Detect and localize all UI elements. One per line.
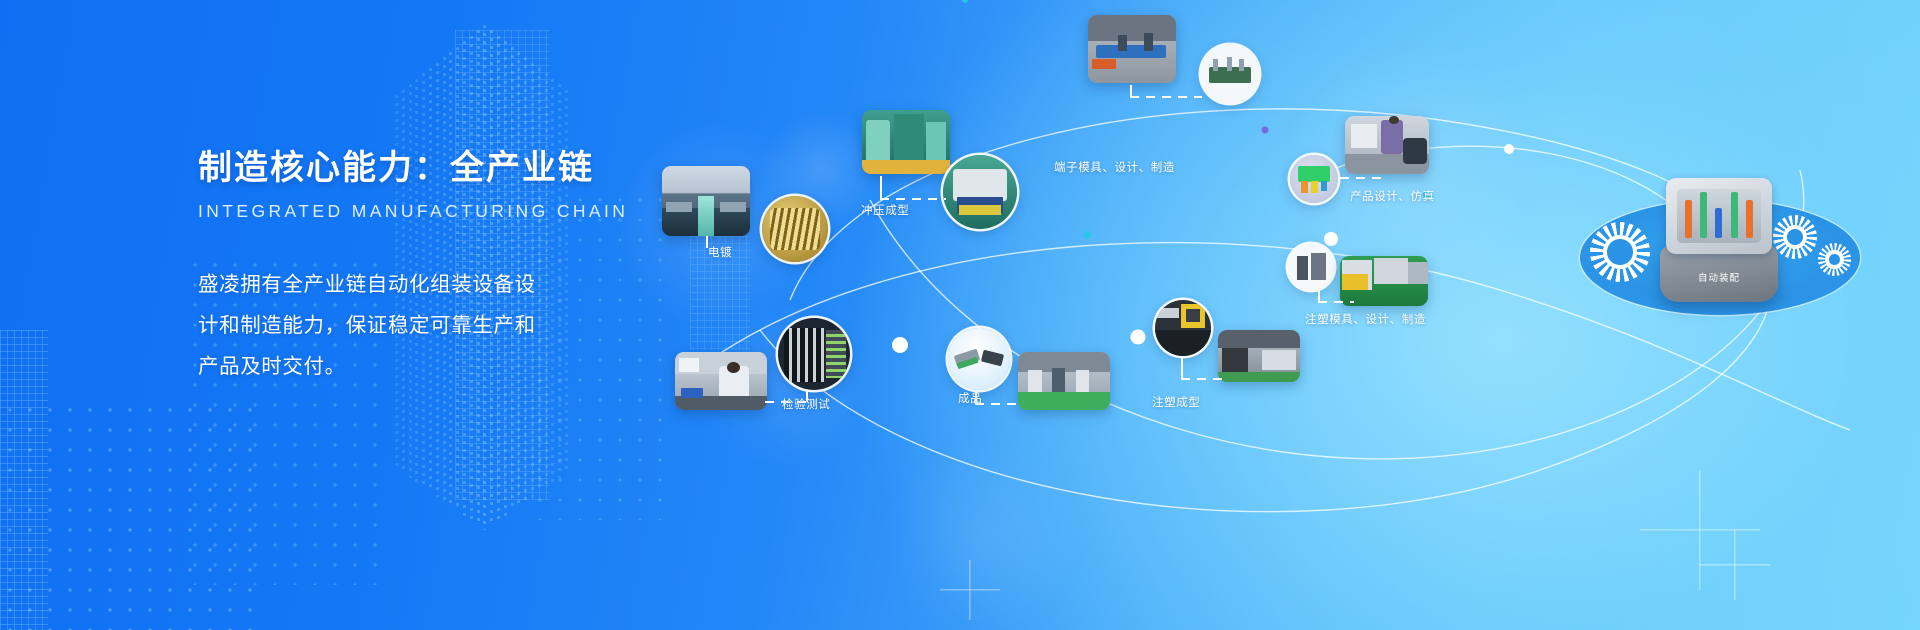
orbit-paths <box>640 0 1920 630</box>
grid-pattern <box>0 330 48 630</box>
connector-dash <box>1318 301 1354 303</box>
node-photo <box>662 166 750 236</box>
connector-dash <box>1181 378 1223 380</box>
hero-paragraph: 盛凌拥有全产业链自动化组装设备设 计和制造能力，保证稳定可靠生产和 产品及时交付… <box>198 264 618 387</box>
machine-base: 自动装配 <box>1660 246 1778 302</box>
node-label: 产品设计、仿真 <box>1350 188 1435 204</box>
node-circle-icon <box>948 328 1010 390</box>
connector-dash <box>880 176 882 198</box>
paragraph-line: 盛凌拥有全产业链自动化组装设备设 <box>198 264 618 305</box>
node-photo <box>1345 116 1429 174</box>
process-diagram: 自动装配 <box>640 0 1920 630</box>
hero-copy: 制造核心能力：全产业链 INTEGRATED MANUFACTURING CHA… <box>198 140 618 387</box>
node-circle-icon <box>1201 45 1259 103</box>
node-circle-icon <box>778 318 850 390</box>
node-label: 成品 <box>958 390 982 406</box>
gear-icon <box>1590 222 1650 282</box>
machine-cavity <box>1677 189 1761 243</box>
page-subtitle: INTEGRATED MANUFACTURING CHAIN <box>198 201 618 222</box>
node-photo <box>862 110 950 174</box>
node-label: 冲压成型 <box>861 202 909 218</box>
node-photo <box>675 352 767 410</box>
hero-banner: 制造核心能力：全产业链 INTEGRATED MANUFACTURING CHA… <box>0 0 1920 630</box>
paragraph-line: 产品及时交付。 <box>198 346 618 387</box>
node-photo <box>1340 256 1428 306</box>
node-circle-icon <box>1288 244 1334 290</box>
gear-icon <box>1818 243 1851 276</box>
node-label: 注塑模具、设计、制造 <box>1305 311 1426 327</box>
node-label: 注塑成型 <box>1152 394 1200 410</box>
automatic-assembly-machine: 自动装配 <box>1652 170 1787 310</box>
hub-label: 自动装配 <box>1660 270 1778 284</box>
node-photo <box>1088 15 1176 83</box>
connector-dash <box>1130 96 1202 98</box>
machine-mold <box>1666 178 1772 254</box>
node-circle-icon <box>1155 300 1211 356</box>
node-photo <box>1018 352 1110 410</box>
node-circle-icon <box>943 155 1017 229</box>
paragraph-line: 计和制造能力，保证稳定可靠生产和 <box>198 305 618 346</box>
connector-dash <box>880 198 946 200</box>
page-title: 制造核心能力：全产业链 <box>198 140 618 189</box>
node-circle-icon <box>1290 155 1338 203</box>
node-photo <box>1218 330 1300 382</box>
connector-dash <box>1181 357 1183 379</box>
node-label: 检验测试 <box>782 396 830 412</box>
node-label: 端子模具、设计、制造 <box>1054 159 1175 175</box>
dot-pattern <box>0 400 260 630</box>
connector-dash <box>1340 177 1388 179</box>
node-circle-icon <box>762 196 828 262</box>
node-label: 电镀 <box>708 244 732 260</box>
